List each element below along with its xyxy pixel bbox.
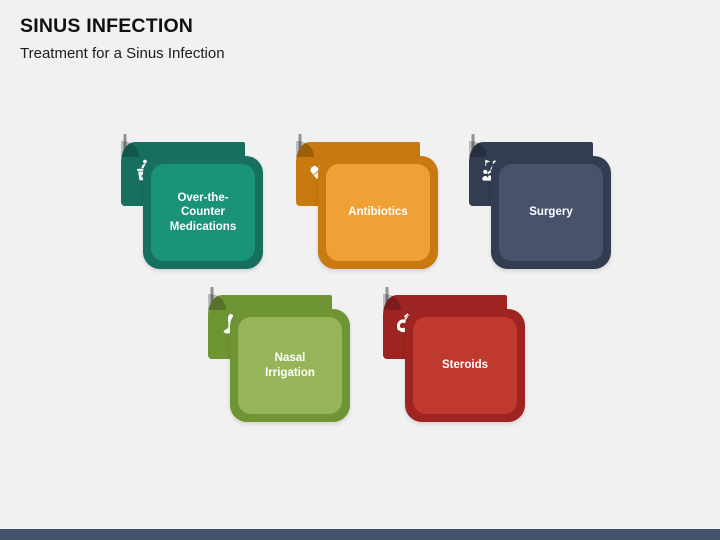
card-label: Over-the- Counter Medications [164,191,242,235]
slide-canvas: SINUS INFECTION Treatment for a Sinus In… [0,0,720,540]
card-inner-panel[interactable]: Steroids [413,317,517,414]
card-label: Surgery [523,205,578,220]
card-inner-panel[interactable]: Surgery [499,164,603,261]
treatment-node-steroids[interactable]: Steroids [375,287,525,422]
card-label: Nasal Irrigation [259,351,321,380]
card-inner-panel[interactable]: Antibiotics [326,164,430,261]
treatment-diagram: Over-the- Counter Medications Antibiotic… [0,0,720,540]
treatment-node-over-the-counter-medications[interactable]: Over-the- Counter Medications [113,134,263,269]
card-label: Antibiotics [342,205,413,220]
card-label: Steroids [436,358,494,373]
treatment-node-antibiotics[interactable]: Antibiotics [288,134,438,269]
treatment-node-nasal-irrigation[interactable]: Nasal Irrigation [200,287,350,422]
treatment-node-surgery[interactable]: Surgery [461,134,611,269]
card-inner-panel[interactable]: Nasal Irrigation [238,317,342,414]
bottom-accent-bar [0,529,720,540]
card-inner-panel[interactable]: Over-the- Counter Medications [151,164,255,261]
